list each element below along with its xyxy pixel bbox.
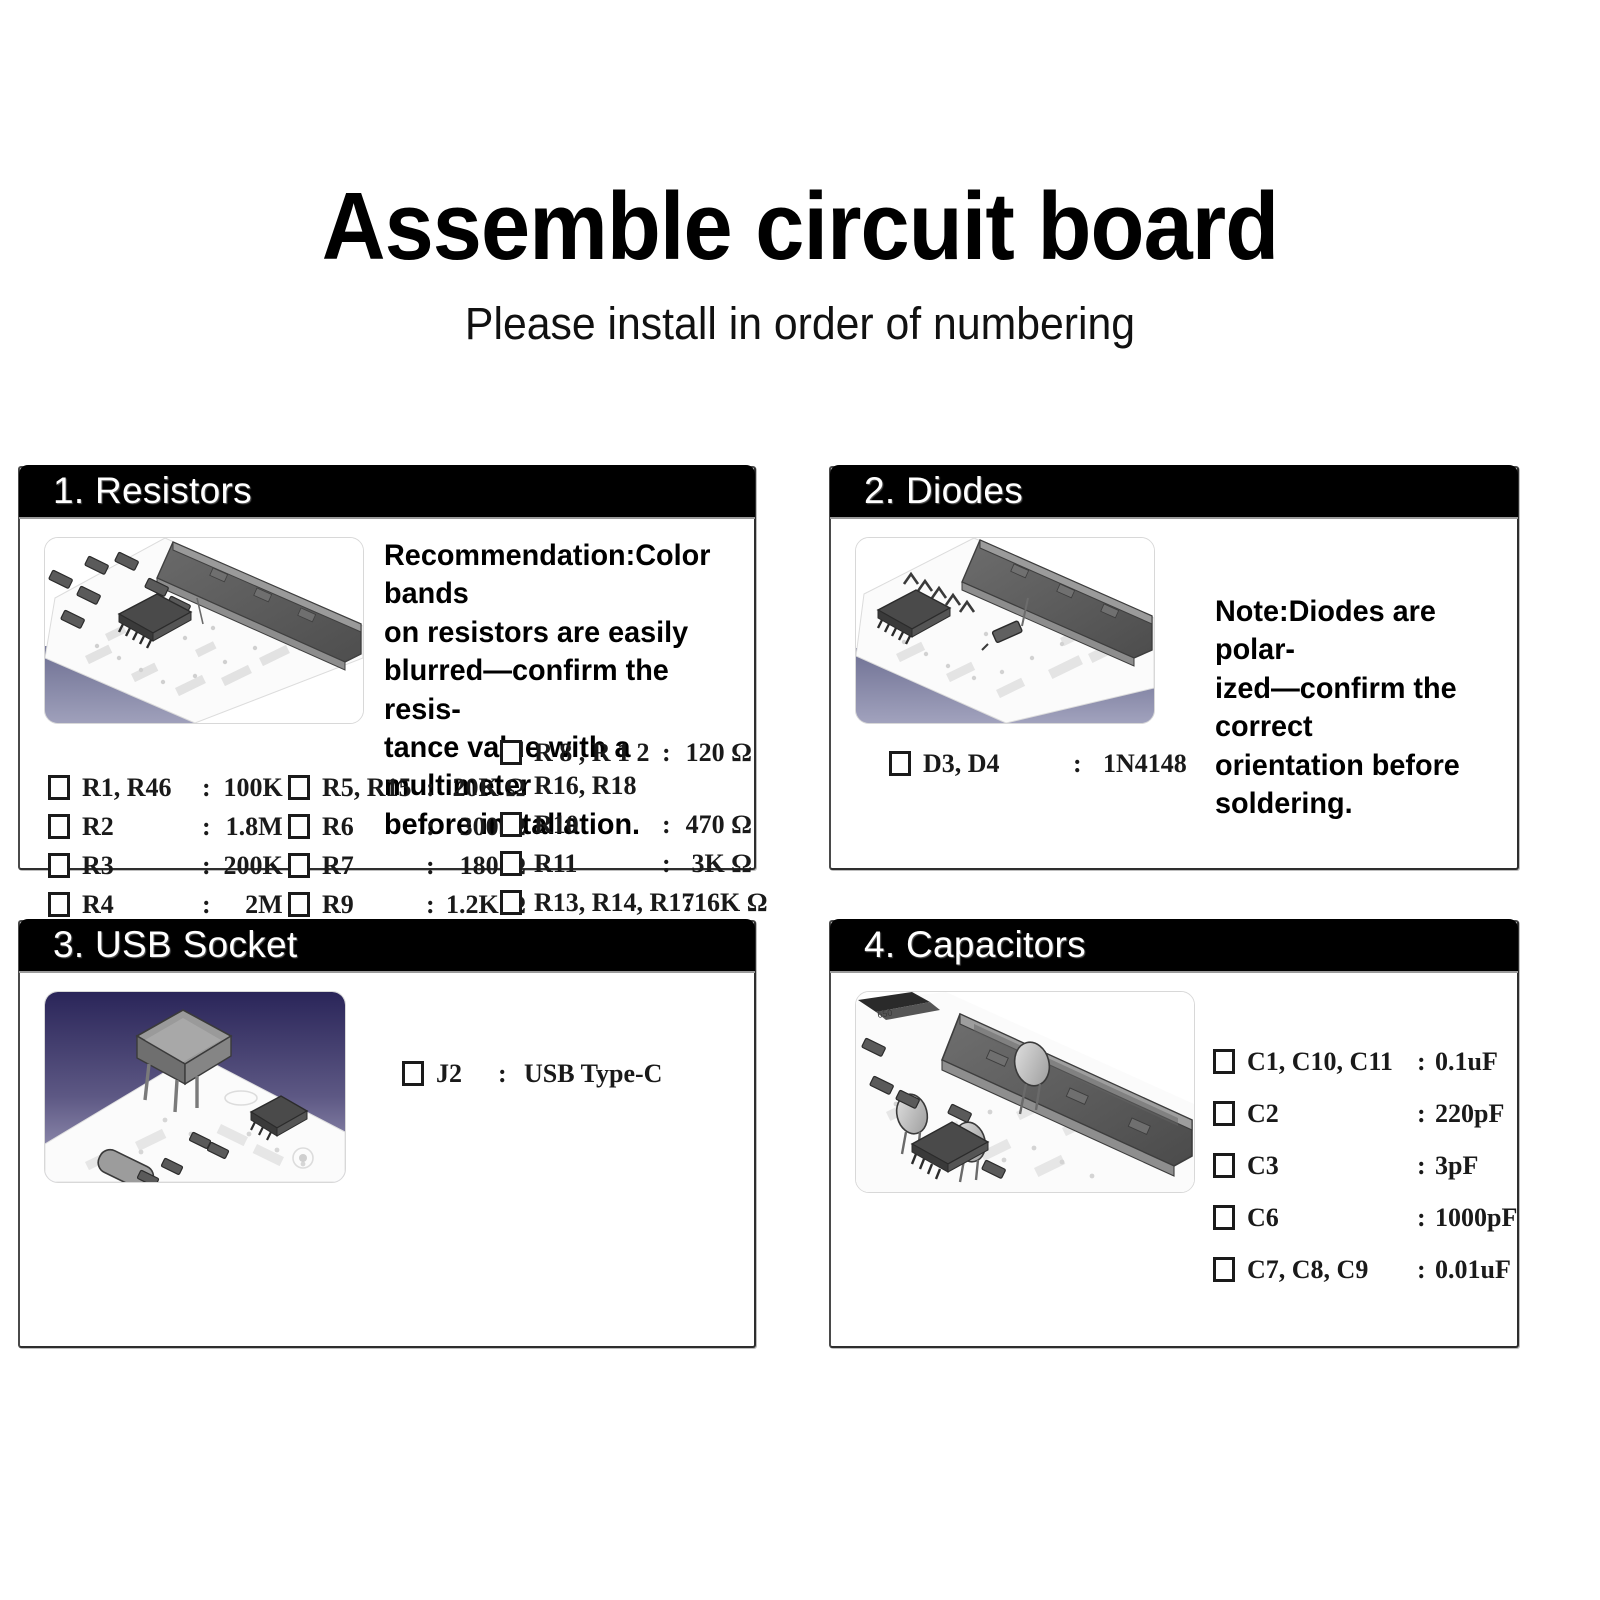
part-name: R5, R15 [322,773,426,803]
resistors-checklist-col-2: R5, R15 : 20K Ω R6 : 300 Ω R7 : 180 Ω [288,773,526,929]
resistors-checklist-col-3: R 8 , R 1 2 : 120 Ω R16, R18 R10 : 470 Ω… [500,738,766,927]
part-name: R3 [82,851,202,881]
checklist-row[interactable]: C7, C8, C9 : 0.01uF [1213,1255,1525,1285]
checkbox[interactable] [48,853,70,878]
panel-diodes-header: 2. Diodes [830,465,1518,517]
part-name: C6 [1247,1203,1417,1233]
checklist-row[interactable]: R4 : 2M Ω [48,890,310,920]
checklist-row[interactable]: C3 : 3pF [1213,1151,1525,1181]
separator: : [1073,749,1103,779]
page-subtitle: Please install in order of numbering [40,298,1560,350]
part-value: USB Type-C [524,1059,684,1089]
separator: : [426,890,442,920]
separator: : [662,810,680,840]
checklist-row[interactable]: D3, D4 : 1N4148 [889,749,1213,779]
part-name: D3, D4 [923,749,1073,779]
separator: : [202,773,218,803]
checkbox[interactable] [288,775,310,800]
checkbox[interactable] [1213,1205,1235,1230]
panel-diodes-note: Note:Diodes are polar- ized—confirm the … [1215,593,1503,823]
checkbox[interactable] [48,775,70,800]
checkbox[interactable] [1213,1257,1235,1282]
part-name: R7 [322,851,426,881]
part-value: 0.1uF [1435,1047,1525,1077]
part-value: 3K Ω [680,849,752,879]
checkbox[interactable] [402,1061,424,1086]
part-value: 3pF [1435,1151,1525,1181]
separator: : [1417,1255,1435,1285]
panel-usb-socket: 3. USB Socket [18,920,756,1348]
panel-resistors: 1. Resistors [18,466,756,870]
diodes-checklist: D3, D4 : 1N4148 [889,749,1213,788]
part-name: C1, C10, C11 [1247,1047,1417,1077]
checklist-row[interactable]: R5, R15 : 20K Ω [288,773,526,803]
separator: : [1417,1203,1435,1233]
pcb-capacitors-illustration: 650 [855,991,1195,1193]
checklist-row[interactable]: R7 : 180 Ω [288,851,526,881]
panel-capacitors-title: 4. Capacitors [830,924,1086,966]
part-value: 120 Ω [680,738,752,768]
part-name: R9 [322,890,426,920]
separator: : [684,888,694,918]
separator: : [426,812,442,842]
checklist-row[interactable]: J2 : USB Type-C [402,1059,684,1089]
resistors-checklist-col-1: R1, R46 : 100K Ω R2 : 1.8M Ω R3 : 200K Ω [48,773,310,929]
part-name: R2 [82,812,202,842]
page-header: Assemble circuit board Please install in… [0,0,1600,350]
checkbox[interactable] [288,853,310,878]
panel-usb-socket-body: J2 : USB Type-C [20,977,754,1346]
checklist-row[interactable]: R 8 , R 1 2 : 120 Ω [500,738,766,768]
part-value: 1000pF [1435,1203,1525,1233]
checklist-row[interactable]: R2 : 1.8M Ω [48,812,310,842]
checkbox[interactable] [500,812,522,837]
part-value: 470 Ω [680,810,752,840]
checklist-row[interactable]: R10 : 470 Ω [500,810,766,840]
pcb-usb-illustration [44,991,346,1183]
separator: : [202,890,218,920]
checklist-row[interactable]: R1, R46 : 100K Ω [48,773,310,803]
pcb-diodes-illustration [855,537,1155,724]
part-value: 0.01uF [1435,1255,1525,1285]
pcb-resistors-illustration [44,537,364,724]
checkbox[interactable] [1213,1153,1235,1178]
separator: : [426,773,442,803]
checklist-row[interactable]: R6 : 300 Ω [288,812,526,842]
separator: : [662,849,680,879]
part-name: C2 [1247,1099,1417,1129]
checklist-row[interactable]: R11 : 3K Ω [500,849,766,879]
panel-capacitors: 4. Capacitors [829,920,1519,1348]
usb-checklist: J2 : USB Type-C [402,1059,684,1098]
checkbox[interactable] [288,892,310,917]
part-name: J2 [436,1059,498,1089]
checkbox[interactable] [48,814,70,839]
separator: : [202,812,218,842]
part-name: R10 [534,810,662,840]
part-name: C7, C8, C9 [1247,1255,1417,1285]
separator: : [1417,1047,1435,1077]
checkbox[interactable] [48,892,70,917]
checkbox[interactable] [1213,1049,1235,1074]
part-value: 16K Ω [694,888,766,918]
checklist-row[interactable]: R13, R14, R17 : 16K Ω [500,888,766,918]
separator: : [1417,1151,1435,1181]
part-name-continuation: R16, R18 [534,771,766,801]
part-name: R13, R14, R17 [534,888,684,918]
separator: : [662,738,680,768]
checkbox[interactable] [500,851,522,876]
checkbox[interactable] [500,890,522,915]
checklist-row[interactable]: R3 : 200K Ω [48,851,310,881]
checkbox[interactable] [1213,1101,1235,1126]
checklist-row[interactable]: C2 : 220pF [1213,1099,1525,1129]
part-value: 1N4148 [1103,749,1213,779]
panel-usb-socket-title: 3. USB Socket [19,924,298,966]
page-title: Assemble circuit board [64,178,1536,276]
part-name: R11 [534,849,662,879]
checkbox[interactable] [889,751,911,776]
part-name: R 8 , R 1 2 [534,738,662,768]
separator: : [202,851,218,881]
checkbox[interactable] [288,814,310,839]
panel-resistors-title: 1. Resistors [19,470,252,512]
checklist-row[interactable]: C6 : 1000pF [1213,1203,1525,1233]
panel-diodes-body: Note:Diodes are polar- ized—confirm the … [831,523,1517,868]
panel-capacitors-body: 650 [831,977,1517,1346]
panel-resistors-body: Recommendation:Color bands on resistors … [20,523,754,868]
panel-diodes-title: 2. Diodes [830,470,1023,512]
separator: : [426,851,442,881]
panel-capacitors-header: 4. Capacitors [830,919,1518,971]
part-name: R1, R46 [82,773,202,803]
checklist-row[interactable]: C1, C10, C11 : 0.1uF [1213,1047,1525,1077]
checklist-row[interactable]: R9 : 1.2K Ω [288,890,526,920]
separator: : [498,1059,524,1089]
panel-resistors-header: 1. Resistors [19,465,755,517]
part-name: C3 [1247,1151,1417,1181]
part-name: R4 [82,890,202,920]
separator: : [1417,1099,1435,1129]
checkbox[interactable] [500,740,522,765]
capacitors-checklist: C1, C10, C11 : 0.1uF C2 : 220pF C3 : 3pF [1213,1047,1525,1307]
part-name: R6 [322,812,426,842]
part-value: 220pF [1435,1099,1525,1129]
panel-diodes: 2. Diodes [829,466,1519,870]
panel-usb-socket-header: 3. USB Socket [19,919,755,971]
